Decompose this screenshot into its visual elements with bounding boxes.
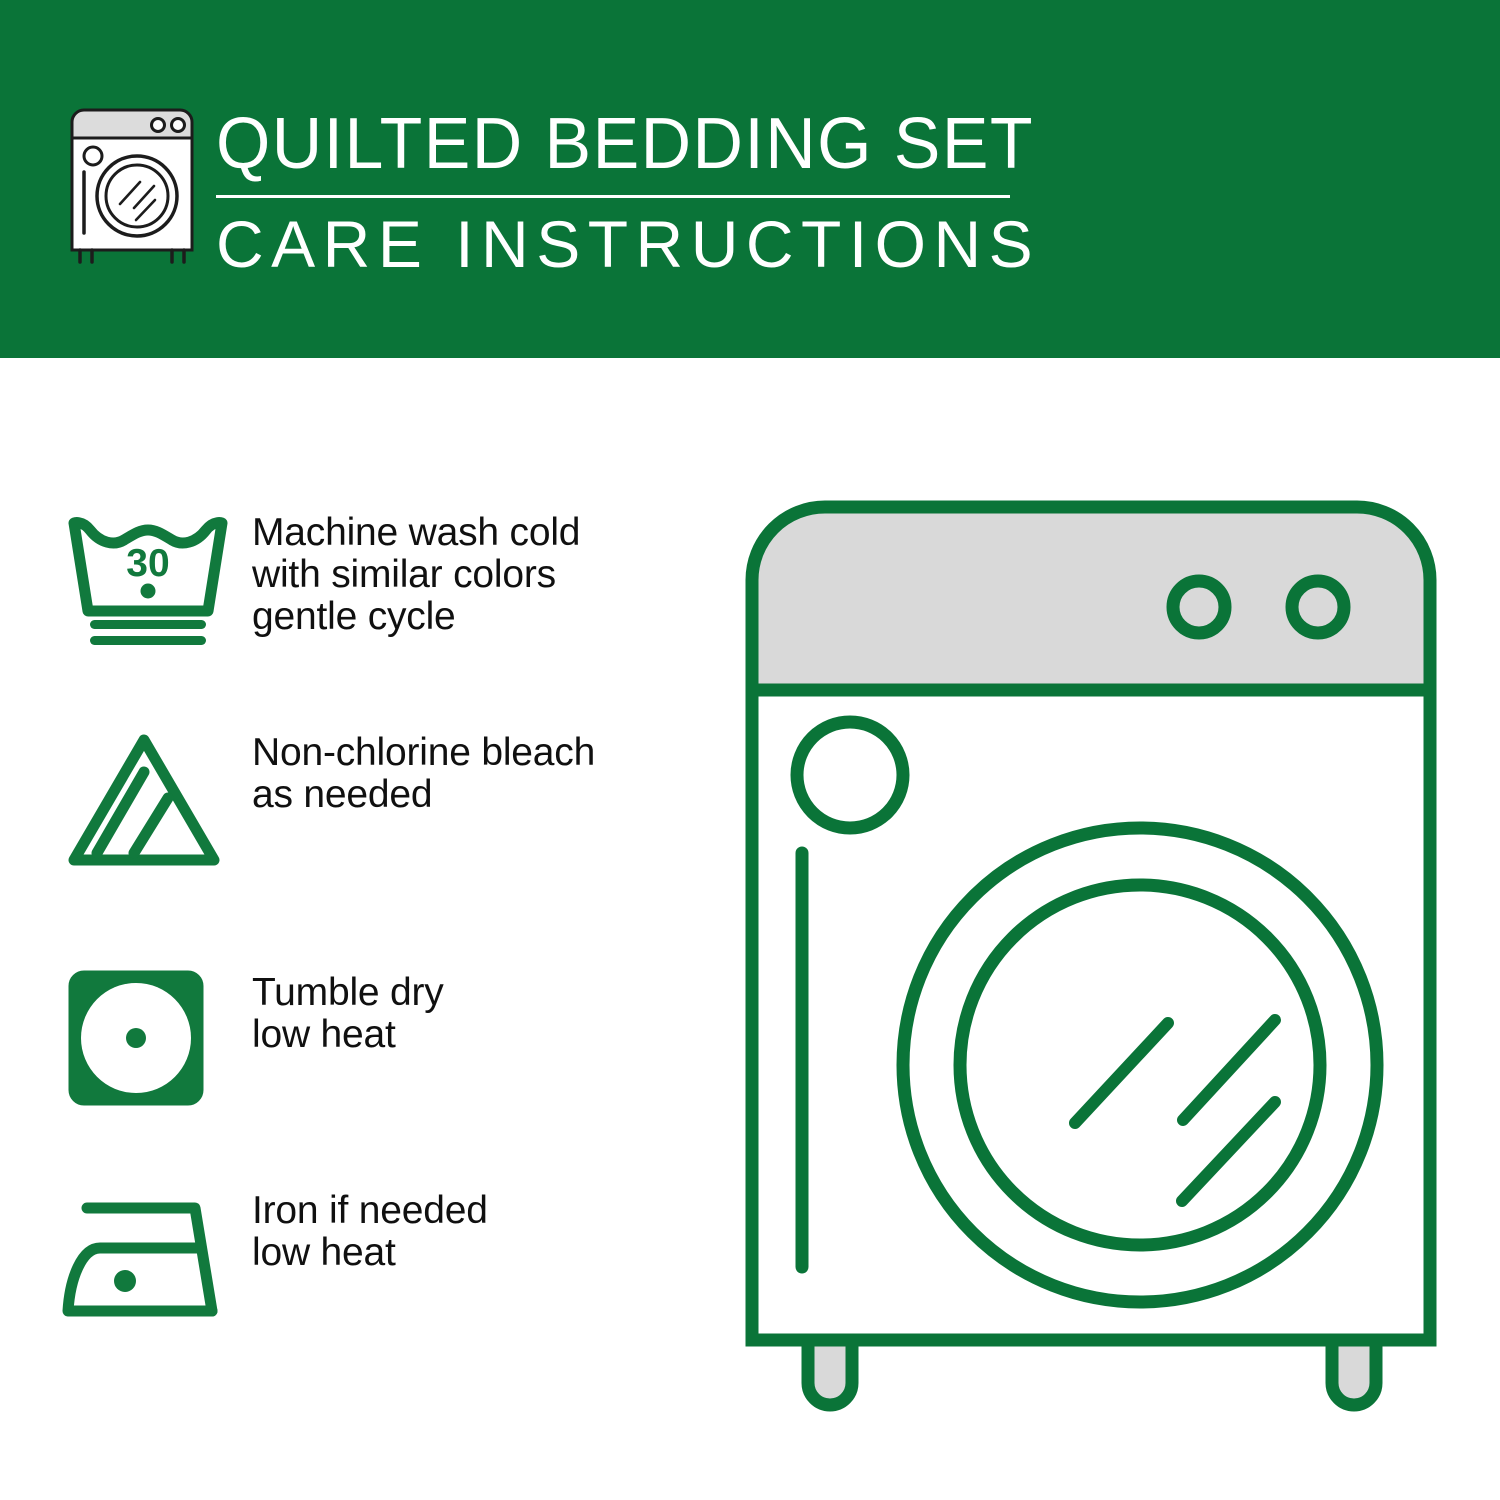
care-row-label: Non-chlorine bleach as needed — [252, 728, 720, 816]
wash-tub-30-gentle-icon: 30 — [62, 508, 252, 648]
page-subtitle: CARE INSTRUCTIONS — [216, 206, 1016, 282]
title-divider — [216, 195, 1010, 198]
header-banner: QUILTED BEDDING SET CARE INSTRUCTIONS — [0, 0, 1500, 358]
care-row-bleach: Non-chlorine bleach as needed — [0, 728, 720, 868]
care-row-label: Iron if needed low heat — [252, 1186, 720, 1274]
care-instructions-page: QUILTED BEDDING SET CARE INSTRUCTIONS 30 — [0, 0, 1500, 1500]
tumble-dry-low-heat-icon — [62, 968, 252, 1108]
iron-low-heat-icon — [62, 1186, 252, 1326]
page-title: QUILTED BEDDING SET — [216, 104, 992, 184]
care-row-iron: Iron if needed low heat — [0, 1186, 720, 1326]
care-row-label: Tumble dry low heat — [252, 968, 720, 1056]
care-instruction-list: 30 Machine wash cold with similar colors… — [0, 358, 720, 1500]
header-text-block: QUILTED BEDDING SET CARE INSTRUCTIONS — [216, 104, 1016, 282]
care-row-machine-wash: 30 Machine wash cold with similar colors… — [0, 508, 720, 648]
large-washing-machine-illustration — [740, 495, 1450, 1420]
triangle-non-chlorine-bleach-icon — [62, 728, 252, 868]
washing-machine-icon — [62, 108, 202, 266]
wash-temperature-label: 30 — [126, 542, 169, 585]
care-row-tumble-dry: Tumble dry low heat — [0, 968, 720, 1108]
care-row-label: Machine wash cold with similar colors ge… — [252, 508, 720, 638]
